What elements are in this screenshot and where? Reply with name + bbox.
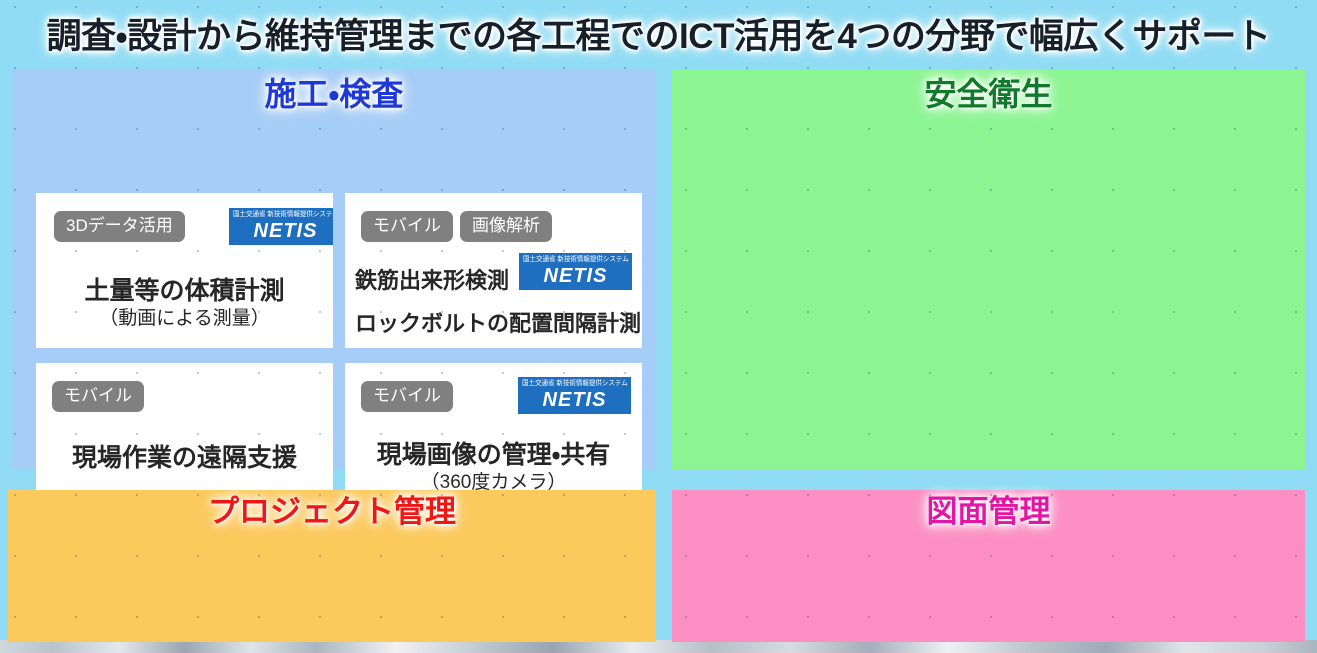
panel-construction: 施工・検査 3Dデータ活用 国土交通省 新技術情報提供システム NETIS 土量… (12, 70, 656, 470)
netis-badge: 国土交通省 新技術情報提供システム NETIS (229, 208, 333, 245)
netis-badge-caption: 国土交通省 新技術情報提供システム (523, 255, 628, 265)
panel-project-title: プロジェクト管理 (8, 490, 656, 527)
card-volume-measurement[interactable]: 3Dデータ活用 国土交通省 新技術情報提供システム NETIS 土量等の体積計測… (36, 193, 333, 348)
panel-drawing-management: 図面管理 BIM活用 BIMデータの管理・共有 AI 画像解析 図面の類似検索 (672, 490, 1305, 642)
page-title: 調査・設計から維持管理までの各工程でのICT活用を4つの分野で幅広くサポート (47, 8, 1271, 59)
netis-badge: 国土交通省 新技術情報提供システム NETIS (519, 253, 632, 290)
panel-drawing-title: 図面管理 (672, 490, 1305, 527)
slide-header: 調査・設計から維持管理までの各工程でのICT活用を4つの分野で幅広くサポート (0, 0, 1317, 66)
netis-badge-caption: 国土交通省 新技術情報提供システム (522, 379, 627, 389)
card-remote-text: 現場作業の遠隔支援 (36, 438, 333, 474)
tag-image-analysis: 画像解析 (460, 211, 552, 242)
panel-project-management: プロジェクト管理 3Dデータ活用 ドローン測量による進捗管理 施工工程管理表 (8, 490, 656, 642)
card-images-text: 現場画像の管理・共有 (345, 435, 642, 471)
tag-mobile: モバイル (52, 381, 144, 412)
panel-safety: 安全衛生 IoT モバイル 画像解析 国土交通省 新技術情報提供システム NET… (672, 70, 1305, 470)
card-volume-text: 土量等の体積計測 (36, 271, 333, 307)
card-rebar-line1: 鉄筋出来形検測 (355, 263, 509, 295)
panel-safety-title: 安全衛生 (672, 70, 1305, 110)
panel-construction-title: 施工・検査 (12, 70, 656, 110)
slide-canvas: 調査・設計から維持管理までの各工程でのICT活用を4つの分野で幅広くサポート 施… (0, 0, 1317, 653)
tag-3d-data: 3Dデータ活用 (54, 211, 185, 242)
netis-badge-label: NETIS (229, 220, 333, 242)
tag-mobile: モバイル (361, 381, 453, 412)
netis-badge-label: NETIS (519, 265, 632, 287)
card-volume-subtext: （動画による測量） (36, 303, 333, 330)
netis-badge-caption: 国土交通省 新技術情報提供システム (233, 210, 333, 220)
netis-badge: 国土交通省 新技術情報提供システム NETIS (518, 377, 631, 414)
card-rebar-inspection[interactable]: モバイル 画像解析 国土交通省 新技術情報提供システム NETIS 鉄筋出来形検… (345, 193, 642, 348)
netis-badge-label: NETIS (518, 389, 631, 411)
tag-mobile: モバイル (361, 211, 453, 242)
card-rebar-line2: ロックボルトの配置間隔計測 (355, 306, 641, 338)
